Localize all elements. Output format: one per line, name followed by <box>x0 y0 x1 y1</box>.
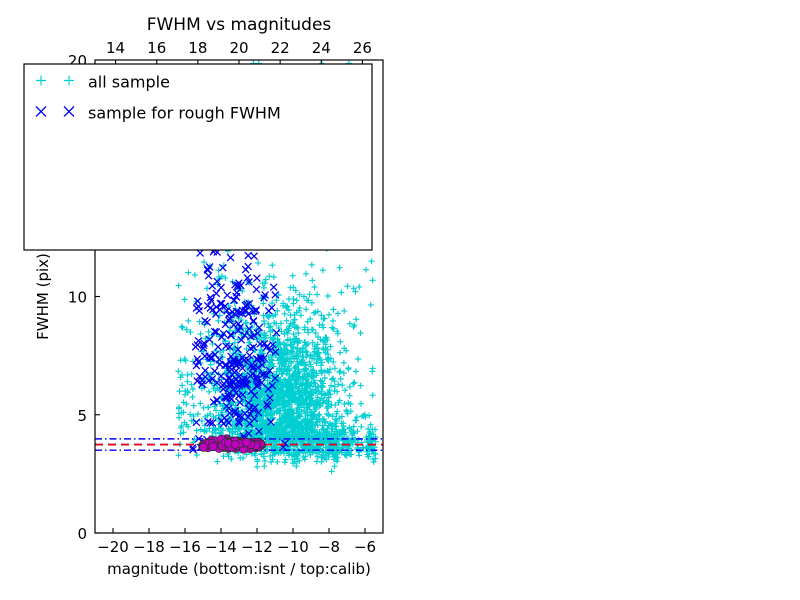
data-point-all-sample <box>262 458 268 464</box>
data-point-all-sample <box>341 308 347 314</box>
data-point-all-sample <box>356 452 362 458</box>
data-point-all-sample <box>332 463 338 469</box>
data-point-all-sample <box>337 339 343 345</box>
xtick-bottom-label: −10 <box>277 538 309 556</box>
data-point-all-sample <box>284 318 290 324</box>
data-point-all-sample <box>176 404 182 410</box>
data-point-all-sample <box>290 273 296 279</box>
data-point-all-sample <box>255 260 261 266</box>
data-point-all-sample <box>314 292 320 298</box>
data-point-all-sample <box>352 417 358 423</box>
data-point-all-sample <box>206 329 212 335</box>
data-point-all-sample <box>271 274 277 280</box>
data-point-all-sample <box>347 393 353 399</box>
data-point-rough-fwhm <box>254 275 261 282</box>
legend-frame <box>24 64 372 250</box>
matplotlib-figure: −20−18−16−14−12−10−8−6magnitude (bottom:… <box>0 0 800 600</box>
data-point-all-sample <box>261 285 267 291</box>
data-point-all-sample <box>198 331 204 337</box>
data-point-all-sample <box>347 384 353 390</box>
data-point-all-sample <box>206 389 212 395</box>
data-point-all-sample <box>358 424 364 430</box>
data-point-all-sample <box>358 401 364 407</box>
ytick-label: 5 <box>77 407 87 425</box>
data-point-all-sample <box>261 321 267 327</box>
data-point-all-sample <box>345 283 351 289</box>
data-point-all-sample <box>182 297 188 303</box>
ytick-label: 10 <box>68 289 87 307</box>
data-point-all-sample <box>185 372 191 378</box>
data-point-all-sample <box>176 452 182 458</box>
data-point-psf-like <box>231 440 239 448</box>
data-point-all-sample <box>312 380 318 386</box>
data-point-all-sample <box>330 307 336 313</box>
data-point-psf-like <box>199 443 207 451</box>
data-point-rough-fwhm <box>222 321 229 328</box>
data-point-rough-fwhm <box>253 286 260 293</box>
xtick-bottom-label: −12 <box>241 538 273 556</box>
data-point-rough-fwhm <box>245 263 252 270</box>
data-point-all-sample <box>194 428 200 434</box>
data-point-all-sample <box>332 365 338 371</box>
data-point-rough-fwhm <box>213 290 220 297</box>
data-point-all-sample <box>338 290 344 296</box>
data-point-all-sample <box>283 457 289 463</box>
data-point-all-sample <box>355 356 361 362</box>
xtick-bottom-label: −6 <box>354 538 376 556</box>
legend-entry-label: sample for rough FWHM <box>88 104 281 123</box>
data-point-all-sample <box>303 306 309 312</box>
data-point-all-sample <box>232 340 238 346</box>
data-point-all-sample <box>185 270 191 276</box>
data-point-all-sample <box>354 414 360 420</box>
xtick-bottom-label: −14 <box>205 538 237 556</box>
left-yaxis-label: FWHM (pix) <box>34 253 52 340</box>
data-point-all-sample <box>179 324 185 330</box>
data-point-rough-fwhm <box>218 284 225 291</box>
xtick-top-label: 26 <box>353 39 372 57</box>
data-point-all-sample <box>261 463 267 469</box>
data-point-all-sample <box>329 325 335 331</box>
data-point-all-sample <box>303 271 309 277</box>
data-point-all-sample <box>199 418 205 424</box>
data-point-all-sample <box>337 265 343 271</box>
data-point-all-sample <box>178 431 184 437</box>
data-point-all-sample <box>342 387 348 393</box>
data-point-all-sample <box>215 318 221 324</box>
data-point-all-sample <box>297 305 303 311</box>
data-point-rough-fwhm <box>217 361 224 368</box>
legend-box: all samplesample for rough FWHM <box>24 64 372 250</box>
data-point-all-sample <box>338 376 344 382</box>
xtick-top-label: 20 <box>229 39 248 57</box>
data-point-all-sample <box>358 383 364 389</box>
data-point-all-sample <box>307 291 313 297</box>
xtick-top-label: 14 <box>106 39 125 57</box>
data-point-rough-fwhm <box>214 396 221 403</box>
data-point-all-sample <box>179 382 185 388</box>
xtick-top-label: 18 <box>188 39 207 57</box>
data-point-rough-fwhm <box>211 368 218 375</box>
data-point-all-sample <box>321 315 327 321</box>
data-point-rough-fwhm <box>205 272 212 279</box>
ytick-label: 0 <box>77 525 87 543</box>
data-point-all-sample <box>243 320 249 326</box>
data-point-all-sample <box>309 262 315 268</box>
data-point-all-sample <box>328 383 334 389</box>
legend-entry-label: all sample <box>88 73 170 92</box>
data-point-all-sample <box>197 400 203 406</box>
data-point-rough-fwhm <box>251 253 258 260</box>
data-point-all-sample <box>194 452 200 458</box>
data-point-all-sample <box>350 381 356 387</box>
data-point-all-sample <box>282 311 288 317</box>
data-point-all-sample <box>176 283 182 289</box>
data-point-all-sample <box>343 407 349 413</box>
data-point-rough-fwhm <box>202 374 209 381</box>
data-point-all-sample <box>190 394 196 400</box>
data-point-all-sample <box>339 382 345 388</box>
data-point-all-sample <box>363 267 369 273</box>
data-point-all-sample <box>341 401 347 407</box>
data-point-all-sample <box>263 277 269 283</box>
data-point-all-sample <box>290 296 296 302</box>
data-point-all-sample <box>326 312 332 318</box>
data-point-all-sample <box>345 365 351 371</box>
data-point-all-sample <box>335 311 341 317</box>
data-point-all-sample <box>310 327 316 333</box>
data-point-rough-fwhm <box>227 254 234 261</box>
xtick-bottom-label: −8 <box>318 538 340 556</box>
data-point-all-sample <box>330 318 336 324</box>
xtick-bottom-label: −20 <box>97 538 129 556</box>
data-point-rough-fwhm <box>215 344 222 351</box>
figure-canvas: −20−18−16−14−12−10−8−6magnitude (bottom:… <box>0 0 800 600</box>
data-point-rough-fwhm <box>270 284 277 291</box>
data-point-all-sample <box>266 314 272 320</box>
data-point-all-sample <box>177 388 183 394</box>
data-point-all-sample <box>309 277 315 283</box>
xtick-top-label: 22 <box>271 39 290 57</box>
data-point-all-sample <box>330 375 336 381</box>
data-point-rough-fwhm <box>197 250 204 257</box>
data-point-all-sample <box>254 464 260 470</box>
left-xaxis-top: 14161820222426FWHM vs magnitudes <box>106 15 372 65</box>
data-point-all-sample <box>341 360 347 366</box>
data-point-all-sample <box>325 293 331 299</box>
data-point-all-sample <box>358 330 364 336</box>
data-point-all-sample <box>336 369 342 375</box>
data-point-all-sample <box>329 468 335 474</box>
data-point-rough-fwhm <box>206 336 213 343</box>
data-point-all-sample <box>370 277 376 283</box>
data-point-all-sample <box>282 459 288 465</box>
data-point-all-sample <box>312 284 318 290</box>
xtick-bottom-label: −18 <box>133 538 165 556</box>
data-point-all-sample <box>214 459 220 465</box>
data-point-all-sample <box>370 365 376 371</box>
left-xaxis-label: magnitude (bottom:isnt / top:calib) <box>107 560 371 578</box>
data-point-all-sample <box>208 362 214 368</box>
data-point-all-sample <box>353 368 359 374</box>
data-point-rough-fwhm <box>224 292 231 299</box>
xtick-bottom-label: −16 <box>169 538 201 556</box>
data-point-psf-like <box>243 438 251 446</box>
data-point-all-sample <box>185 318 191 324</box>
data-point-all-sample <box>185 379 191 385</box>
data-point-all-sample <box>347 321 353 327</box>
data-point-all-sample <box>191 403 197 409</box>
data-point-all-sample <box>266 273 272 279</box>
data-point-all-sample <box>369 258 375 264</box>
data-point-all-sample <box>294 297 300 303</box>
data-point-all-sample <box>353 316 359 322</box>
left-xaxis-bottom: −20−18−16−14−12−10−8−6magnitude (bottom:… <box>97 528 376 578</box>
data-point-all-sample <box>368 302 374 308</box>
data-point-all-sample <box>189 371 195 377</box>
data-point-all-sample <box>201 259 207 265</box>
data-point-all-sample <box>337 350 343 356</box>
data-point-rough-fwhm <box>209 306 216 313</box>
xtick-top-label: 24 <box>312 39 331 57</box>
data-point-all-sample <box>175 368 181 374</box>
data-point-all-sample <box>295 330 301 336</box>
data-point-all-sample <box>269 262 275 268</box>
data-point-all-sample <box>291 317 297 323</box>
data-point-all-sample <box>319 322 325 328</box>
data-point-rough-fwhm <box>193 305 200 312</box>
data-point-all-sample <box>370 392 376 398</box>
data-point-all-sample <box>190 386 196 392</box>
data-point-all-sample <box>320 267 326 273</box>
data-point-all-sample <box>288 312 294 318</box>
data-point-all-sample <box>351 380 357 386</box>
data-point-all-sample <box>356 284 362 290</box>
data-point-all-sample <box>189 382 195 388</box>
data-point-psf-like <box>209 442 217 450</box>
left-panel-title: FWHM vs magnitudes <box>147 15 332 35</box>
data-point-all-sample <box>331 388 337 394</box>
xtick-top-label: 16 <box>147 39 166 57</box>
data-point-all-sample <box>192 272 198 278</box>
